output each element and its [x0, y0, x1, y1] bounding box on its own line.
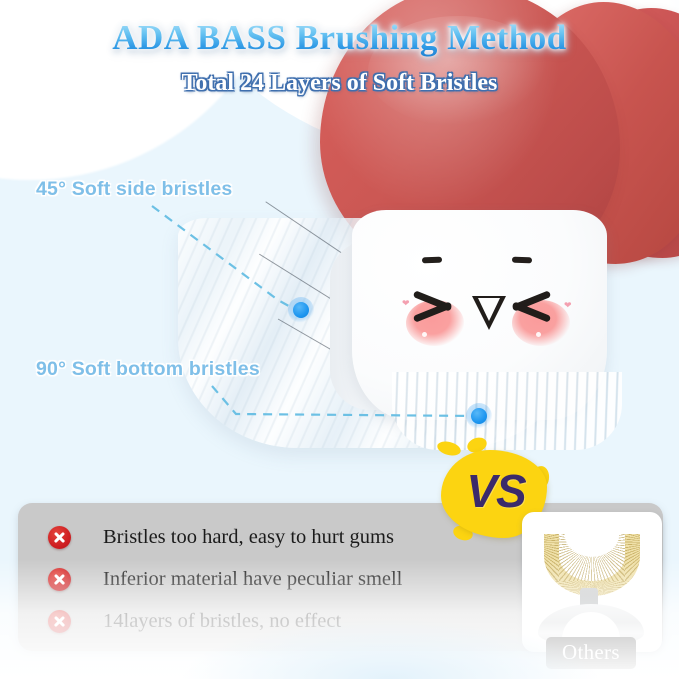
- red-x-icon: [48, 526, 71, 549]
- sparkle-right-icon: ❤: [564, 300, 572, 311]
- mouth-inner: [478, 298, 500, 321]
- blush-dot-right: [536, 332, 541, 337]
- splat-droplet: [436, 439, 463, 458]
- callout-label-bottom-bristles: 90° Soft bottom bristles: [36, 358, 260, 381]
- page-title: ADA BASS Brushing Method: [0, 18, 679, 58]
- product-infographic: ❤ ❤ ADA BASS Brushing Method Total 24 La…: [0, 0, 679, 679]
- con-text: Bristles too hard, easy to hurt gums: [103, 526, 394, 549]
- mascot-face: ❤ ❤: [400, 248, 600, 368]
- bottom-tint: [180, 619, 600, 679]
- eye-right-icon: [508, 286, 554, 330]
- bristle-marker-side[interactable]: [288, 297, 314, 323]
- eyebrow-right-icon: [512, 257, 532, 264]
- sparkle-left-icon: ❤: [402, 298, 410, 309]
- blush-dot-left: [422, 332, 427, 337]
- page-subtitle: Total 24 Layers of Soft Bristles: [0, 70, 679, 97]
- eyebrow-left-icon: [422, 257, 442, 264]
- callout-label-side-bristles: 45° Soft side bristles: [36, 178, 232, 201]
- versus-label: VS: [437, 464, 555, 518]
- bristle-marker-bottom[interactable]: [466, 403, 492, 429]
- eye-left-icon: [414, 286, 460, 330]
